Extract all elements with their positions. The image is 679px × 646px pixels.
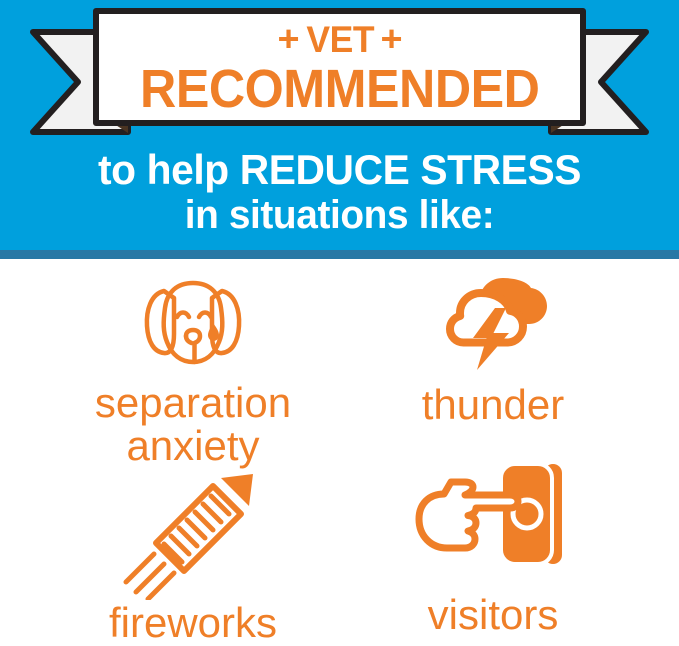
thunder-cloud-icon	[433, 270, 553, 378]
firework-rocket-icon	[118, 460, 268, 600]
subtitle-block: to help REDUCE STRESS in situations like…	[0, 148, 679, 236]
subtitle-line-1: to help REDUCE STRESS	[10, 148, 669, 192]
subtitle-line-2: in situations like:	[10, 195, 669, 237]
situation-label-fireworks: fireworks	[109, 602, 277, 645]
situations-grid: separation anxiety thunder	[0, 262, 679, 645]
hero-underline-stripe	[0, 250, 679, 259]
hand-pressing-doorbell-icon	[413, 460, 573, 568]
situation-item-separation-anxiety: separation anxiety	[48, 270, 338, 468]
sad-dog-face-icon	[133, 270, 253, 378]
vet-recommended-ribbon: + VET + RECOMMENDED	[0, 0, 679, 150]
situation-item-visitors: visitors	[348, 460, 638, 637]
situation-item-thunder: thunder	[348, 270, 638, 427]
situation-label-thunder: thunder	[422, 384, 564, 427]
situation-label-separation-anxiety: separation anxiety	[95, 382, 291, 468]
situation-label-visitors: visitors	[428, 594, 559, 637]
ribbon-main-panel	[96, 11, 583, 123]
ribbon-shape-svg	[0, 0, 679, 150]
situation-item-fireworks: fireworks	[48, 460, 338, 645]
